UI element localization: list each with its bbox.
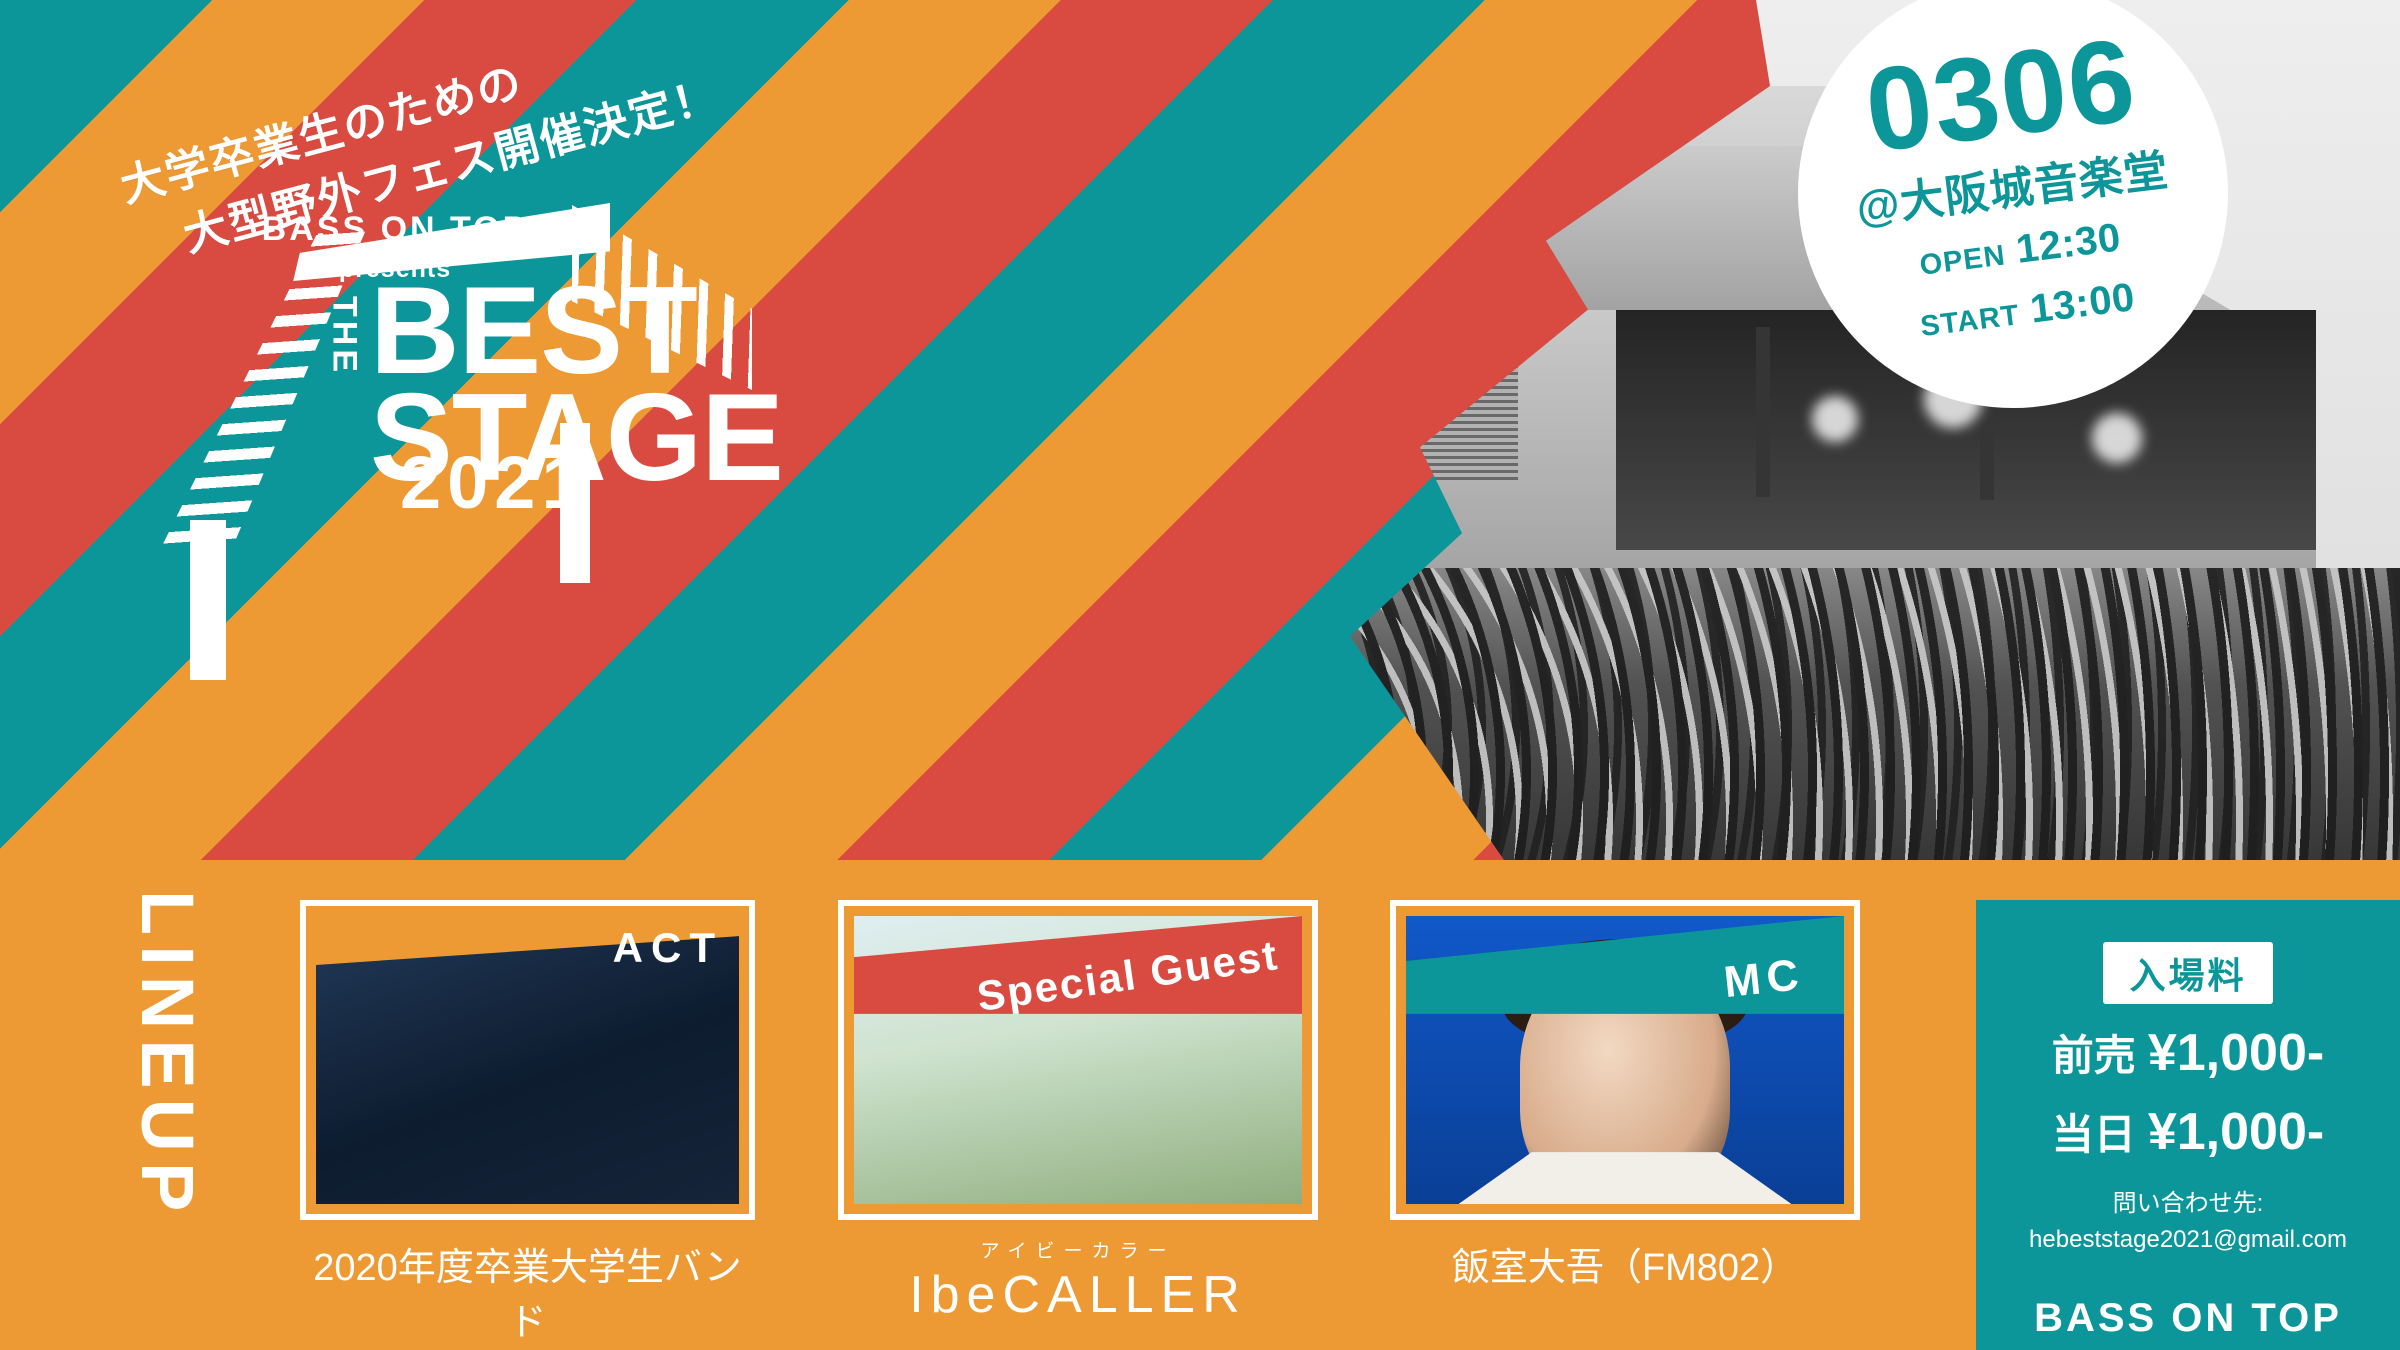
start-label: START	[1919, 299, 2022, 343]
contact-label: 問い合わせ先:	[1976, 1186, 2400, 1222]
guest-ruby: アイビーカラー	[838, 1236, 1318, 1263]
lineup-card-act[interactable]: ACT 2020年度卒業大学生バンド	[300, 900, 755, 1346]
act-badge: ACT	[613, 924, 723, 972]
lineup-card-mc[interactable]: MC 飯室大吾（FM802）	[1390, 900, 1860, 1291]
lineup-heading: LINEUP	[130, 890, 204, 1221]
guest-name: IbeCALLER	[909, 1266, 1247, 1324]
door-label: 当日	[2052, 1111, 2136, 1158]
guest-caption: アイビーカラー IbeCALLER	[838, 1236, 1318, 1325]
date-badge: 0306 @大阪城音楽堂 OPEN 12:30 START 13:00	[1798, 0, 2228, 408]
photo-audience	[1000, 568, 2400, 860]
contact-email[interactable]: hebeststage2021@gmail.com	[1976, 1222, 2400, 1258]
open-label: OPEN	[1918, 240, 2007, 282]
title-the-text: THE	[328, 296, 359, 376]
advance-price-row: 前売¥1,000-	[1976, 1022, 2400, 1083]
mc-badge: MC	[1721, 950, 1806, 1008]
presenter-name: BASS ON TOP	[230, 210, 560, 249]
door-price-row: 当日¥1,000-	[1976, 1101, 2400, 1162]
mc-shirt	[1459, 1152, 1792, 1204]
lineup-card-special-guest[interactable]: Special Guest アイビーカラー IbeCALLER	[838, 900, 1318, 1325]
act-caption: 2020年度卒業大学生バンド	[300, 1236, 755, 1346]
admission-panel: 入場料 前売¥1,000- 当日¥1,000- 問い合わせ先: hebestst…	[1976, 900, 2400, 1350]
open-time: 12:30	[2014, 215, 2123, 271]
act-photo-frame: ACT	[300, 900, 755, 1220]
festival-year: 2021	[400, 440, 589, 525]
contact-block: 問い合わせ先: hebeststage2021@gmail.com	[1976, 1186, 2400, 1258]
photo-stagelight-3	[2092, 413, 2142, 463]
mc-photo-frame: MC	[1390, 900, 1860, 1220]
guest-photo-frame: Special Guest	[838, 900, 1318, 1220]
mc-caption: 飯室大吾（FM802）	[1390, 1236, 1860, 1291]
door-value: ¥1,000-	[2148, 1103, 2324, 1161]
hero-section: 大学卒業生のための 大型野外フェス開催決定！ BASS ON TOP prese…	[0, 0, 2400, 860]
special-guest-badge: Special Guest	[974, 931, 1282, 1021]
photo-truss-left	[1756, 327, 1770, 497]
event-poster: 大学卒業生のための 大型野外フェス開催決定！ BASS ON TOP prese…	[0, 0, 2400, 1350]
mc-photo: MC	[1406, 916, 1844, 1204]
admission-heading: 入場料	[2103, 942, 2272, 1004]
start-time: 13:00	[2028, 275, 2137, 331]
special-guest-ribbon: Special Guest	[854, 916, 1302, 1014]
advance-value: ¥1,000-	[2148, 1024, 2324, 1082]
logo-post-left-icon	[190, 520, 226, 680]
title-the: THE	[328, 296, 359, 376]
photo-louvre	[1154, 344, 1518, 482]
guest-photo: Special Guest	[854, 916, 1302, 1204]
advance-label: 前売	[2052, 1032, 2136, 1079]
mc-ribbon: MC	[1406, 916, 1844, 1014]
footer-logo: BASS ON TOP	[1976, 1296, 2400, 1341]
